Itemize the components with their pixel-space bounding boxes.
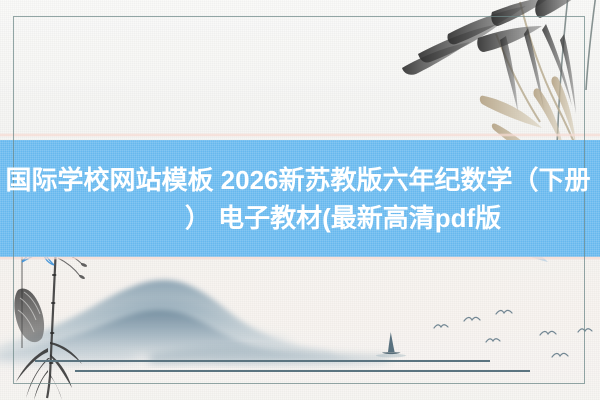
headline-line-2: ） 电子教材(最新高清pdf版 (185, 199, 501, 237)
bottom-rule-upper (35, 360, 490, 362)
bottom-rule-lower (75, 370, 530, 372)
poster-canvas: 国际学校网站模板 2026新苏教版六年纪数学（下册 ） 电子教材(最新高清pdf… (0, 0, 600, 400)
poster-headline: 国际学校网站模板 2026新苏教版六年纪数学（下册 ） 电子教材(最新高清pdf… (0, 140, 600, 257)
headline-line-1: 国际学校网站模板 2026新苏教版六年纪数学（下册 (5, 161, 590, 199)
